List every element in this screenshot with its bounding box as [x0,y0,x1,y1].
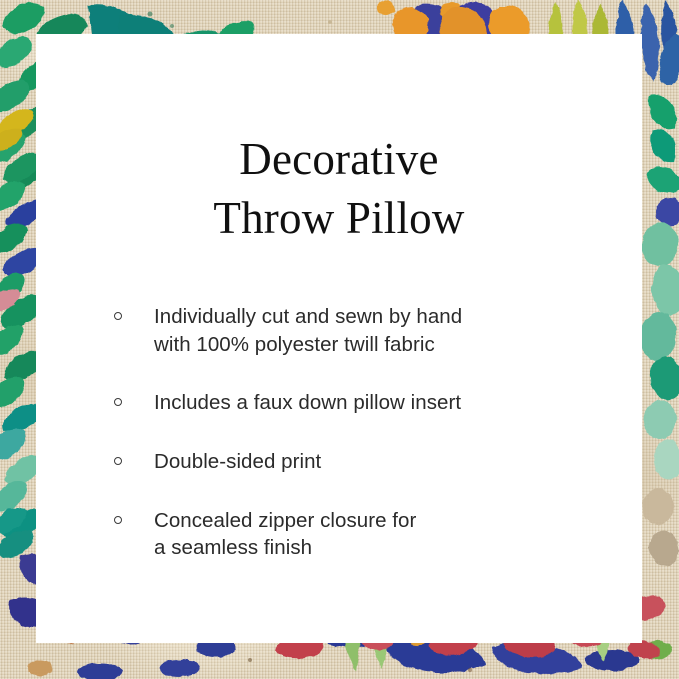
white-content-card: Decorative Throw Pillow Individually cut… [36,34,642,643]
list-item: Includes a faux down pillow insert [154,389,602,417]
title-line-2: Throw Pillow [76,189,602,248]
list-item: Double-sided print [154,448,602,476]
feature-text: Double-sided print [154,448,602,476]
feature-text: Individually cut and sewn by hand with 1… [154,303,602,358]
hollow-circle-bullet-icon [114,457,122,465]
hollow-circle-bullet-icon [114,398,122,406]
right-edge-green-leaves [638,95,679,567]
product-feature-card-screenshot: Decorative Throw Pillow Individually cut… [0,0,679,679]
feature-line-1: Concealed zipper closure for [154,509,416,532]
feature-line-2: with 100% polyester twill fabric [154,331,602,359]
feature-line-1: Includes a faux down pillow insert [154,391,461,414]
hollow-circle-bullet-icon [114,312,122,320]
feature-line-1: Individually cut and sewn by hand [154,305,462,328]
feature-text: Concealed zipper closure for a seamless … [154,507,602,562]
list-item: Individually cut and sewn by hand with 1… [154,303,602,358]
feature-line-1: Double-sided print [154,450,321,473]
feature-line-2: a seamless finish [154,534,602,562]
title-line-1: Decorative [76,130,602,189]
card-content: Decorative Throw Pillow Individually cut… [36,34,642,643]
feature-text: Includes a faux down pillow insert [154,389,602,417]
feature-list: Individually cut and sewn by hand with 1… [76,303,602,562]
page-title: Decorative Throw Pillow [76,130,602,247]
list-item: Concealed zipper closure for a seamless … [154,507,602,562]
hollow-circle-bullet-icon [114,516,122,524]
